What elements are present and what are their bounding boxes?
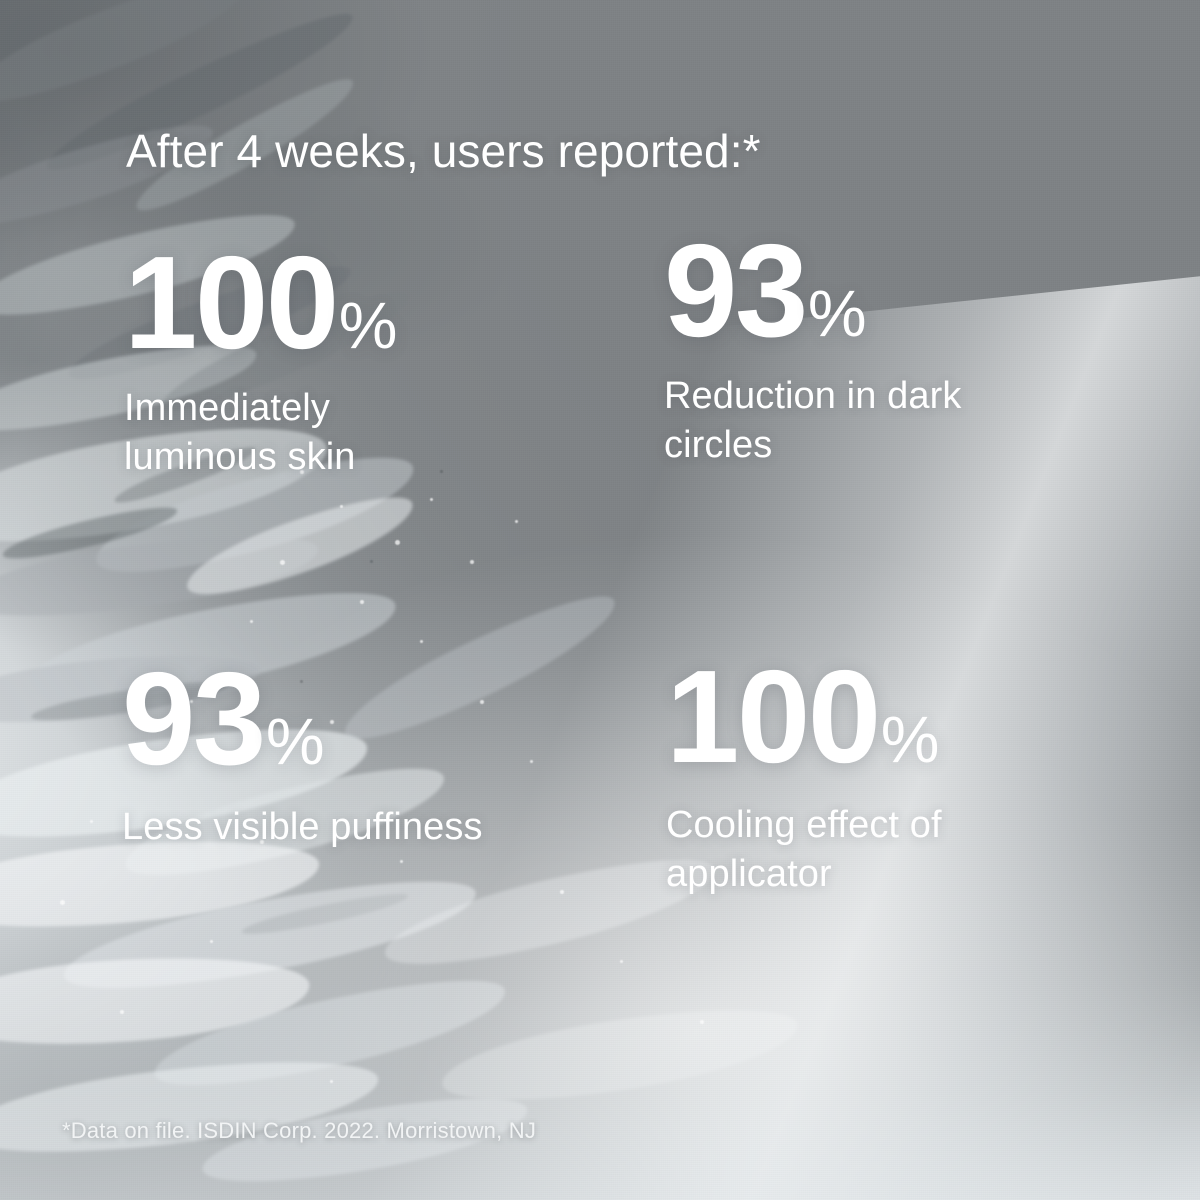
stat-label-line: luminous skin [124, 433, 397, 481]
footnote-disclaimer: *Data on file. ISDIN Corp. 2022. Morrist… [62, 1118, 536, 1144]
stat-block-less-visible-puffiness: 93 % Less visible puffiness [122, 654, 483, 852]
stat-label: Less visible puffiness [122, 803, 483, 851]
stat-number: 93 [122, 654, 264, 783]
stat-block-cooling-effect-of-applicator: 100 % Cooling effect of applicator [666, 652, 942, 898]
stat-value: 100 % [666, 652, 942, 781]
stat-percent-symbol: % [266, 708, 325, 774]
stat-percent-symbol: % [881, 706, 940, 772]
stat-label-line: Cooling effect of [666, 801, 942, 849]
promo-stat-card: After 4 weeks, users reported:* 100 % Im… [0, 0, 1200, 1200]
stat-value: 93 % [122, 654, 483, 783]
stat-number: 100 [124, 238, 337, 367]
stat-block-immediately-luminous-skin: 100 % Immediately luminous skin [124, 238, 397, 481]
stat-block-reduction-in-dark-circles: 93 % Reduction in dark circles [664, 226, 961, 469]
stat-label-line: Immediately [124, 384, 397, 432]
stat-label: Immediately luminous skin [124, 384, 397, 481]
stat-percent-symbol: % [339, 292, 398, 358]
stat-label-line: Reduction in dark [664, 372, 961, 420]
stat-percent-symbol: % [808, 280, 867, 346]
stat-label-line: Less visible puffiness [122, 803, 483, 851]
stat-value: 93 % [664, 226, 961, 355]
page-title: After 4 weeks, users reported:* [126, 126, 761, 178]
stat-number: 100 [666, 652, 879, 781]
stat-label-line: applicator [666, 850, 942, 898]
stat-label: Cooling effect of applicator [666, 801, 942, 898]
stat-label: Reduction in dark circles [664, 372, 961, 469]
stat-label-line: circles [664, 421, 961, 469]
stat-value: 100 % [124, 238, 397, 367]
stat-number: 93 [664, 226, 806, 355]
content-overlay: After 4 weeks, users reported:* 100 % Im… [0, 0, 1200, 1200]
